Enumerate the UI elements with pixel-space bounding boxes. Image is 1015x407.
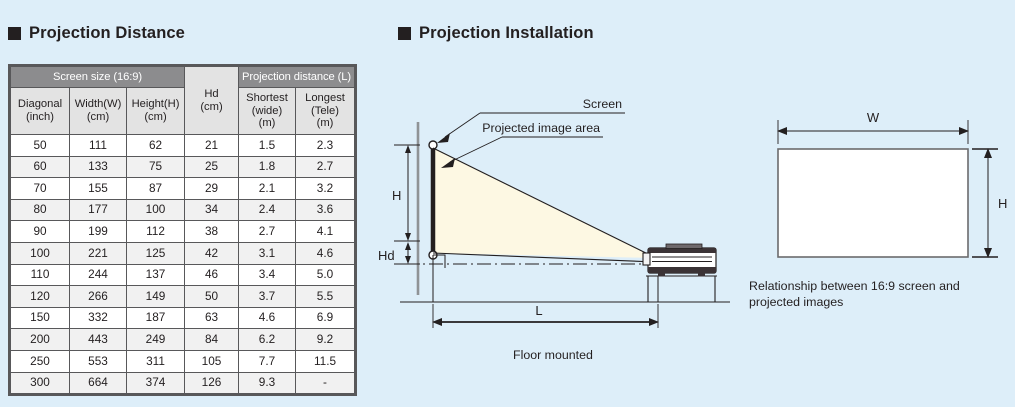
column-header-hd: Hd (cm)	[185, 67, 239, 135]
installation-diagram-svg: H Hd L	[390, 90, 740, 390]
table-cell: 9.3	[239, 372, 296, 394]
table-cell: 50	[185, 286, 239, 308]
square-bullet-icon	[398, 27, 411, 40]
table-cell: 4.6	[296, 242, 355, 264]
projection-distance-table-container: Screen size (16:9) Hd (cm) Projection di…	[8, 64, 357, 396]
table-cell: 50	[11, 135, 70, 157]
table-cell: 87	[127, 178, 185, 200]
dimension-hd-label: Hd	[378, 248, 395, 263]
column-header-height-label: Height(H)	[127, 98, 184, 111]
installation-diagram-caption: Floor mounted	[513, 348, 593, 362]
screen-rectangle	[778, 149, 968, 257]
table-cell: 70	[11, 178, 70, 200]
table-cell: 126	[185, 372, 239, 394]
table-cell: 2.1	[239, 178, 296, 200]
ratio-diagram-caption: Relationship between 16:9 screen and pro…	[749, 278, 999, 311]
table-row: 5011162211.52.3	[11, 135, 355, 157]
table-cell: 155	[70, 178, 127, 200]
table-cell: 3.7	[239, 286, 296, 308]
leader-screen-label: Screen	[583, 97, 622, 111]
page-root: Projection Distance Projection Installat…	[0, 0, 1015, 407]
projection-installation-diagram: H Hd L	[390, 90, 740, 390]
dimension-h-ratio: H	[972, 148, 1007, 258]
table-cell: 250	[11, 350, 70, 372]
table-row: 100221125423.14.6	[11, 242, 355, 264]
table-group-header-row: Screen size (16:9) Hd (cm) Projection di…	[11, 67, 355, 88]
table-cell: 266	[70, 286, 127, 308]
column-header-height: Height(H) (cm)	[127, 88, 185, 135]
dimension-l-label: L	[535, 303, 542, 318]
table-cell: 110	[11, 264, 70, 286]
table-cell: 2.7	[296, 156, 355, 178]
table-cell: 63	[185, 307, 239, 329]
group-header-projection-distance: Projection distance (L)	[239, 67, 355, 88]
table-cell: 34	[185, 199, 239, 221]
table-cell: -	[296, 372, 355, 394]
table-row: 150332187634.66.9	[11, 307, 355, 329]
column-header-hd-unit: (cm)	[185, 101, 238, 114]
table-cell: 9.2	[296, 329, 355, 351]
column-header-longest: Longest (Tele) (m)	[296, 88, 355, 135]
table-cell: 80	[11, 199, 70, 221]
dimension-h-label: H	[392, 188, 401, 203]
column-header-longest-label2: (Tele)	[296, 105, 354, 118]
table-column-header-row: Diagonal (inch) Width(W) (cm) Height(H) …	[11, 88, 355, 135]
column-header-shortest-unit: (m)	[239, 117, 295, 130]
table-cell: 2.7	[239, 221, 296, 243]
table-row: 200443249846.29.2	[11, 329, 355, 351]
column-header-hd-label: Hd	[185, 88, 238, 101]
leader-projected-image-area-label: Projected image area	[482, 121, 600, 135]
table-cell: 311	[127, 350, 185, 372]
column-header-height-unit: (cm)	[127, 111, 184, 124]
table-cell: 75	[127, 156, 185, 178]
table-row: 3006643741269.3-	[11, 372, 355, 394]
table-cell: 5.0	[296, 264, 355, 286]
table-cell: 105	[185, 350, 239, 372]
table-cell: 149	[127, 286, 185, 308]
dimension-l: L	[432, 303, 659, 328]
table-cell: 137	[127, 264, 185, 286]
column-header-width-label: Width(W)	[70, 98, 126, 111]
table-cell: 111	[70, 135, 127, 157]
table-cell: 3.1	[239, 242, 296, 264]
section-heading-label: Projection Installation	[419, 24, 594, 43]
table-cell: 62	[127, 135, 185, 157]
table-cell: 46	[185, 264, 239, 286]
table-row: 110244137463.45.0	[11, 264, 355, 286]
table-cell: 177	[70, 199, 127, 221]
ratio-diagram-svg: W H	[740, 100, 1010, 300]
table-cell: 443	[70, 329, 127, 351]
column-header-width-unit: (cm)	[70, 111, 126, 124]
screen-top-roller-icon	[429, 141, 437, 149]
table-cell: 6.9	[296, 307, 355, 329]
column-header-diagonal-label: Diagonal	[11, 98, 69, 111]
column-header-width: Width(W) (cm)	[70, 88, 127, 135]
table-cell: 2.3	[296, 135, 355, 157]
leader-screen: Screen	[437, 97, 625, 143]
table-cell: 244	[70, 264, 127, 286]
column-header-shortest: Shortest (wide) (m)	[239, 88, 296, 135]
table-cell: 112	[127, 221, 185, 243]
table-cell: 4.1	[296, 221, 355, 243]
table-cell: 199	[70, 221, 127, 243]
table-cell: 100	[11, 242, 70, 264]
table-cell: 120	[11, 286, 70, 308]
table-cell: 249	[127, 329, 185, 351]
table-cell: 84	[185, 329, 239, 351]
table-cell: 2.4	[239, 199, 296, 221]
table-cell: 664	[70, 372, 127, 394]
table-row: 2505533111057.711.5	[11, 350, 355, 372]
table-row: 6013375251.82.7	[11, 156, 355, 178]
table-cell: 1.8	[239, 156, 296, 178]
table-cell: 187	[127, 307, 185, 329]
table-cell: 332	[70, 307, 127, 329]
dimension-h-ratio-label: H	[998, 196, 1007, 211]
table-cell: 90	[11, 221, 70, 243]
dimension-h: H	[392, 145, 420, 241]
table-cell: 3.2	[296, 178, 355, 200]
table-cell: 553	[70, 350, 127, 372]
column-header-diagonal: Diagonal (inch)	[11, 88, 70, 135]
section-heading-projection-distance: Projection Distance	[8, 24, 185, 43]
projection-distance-table: Screen size (16:9) Hd (cm) Projection di…	[10, 66, 355, 394]
table-cell: 3.4	[239, 264, 296, 286]
table-cell: 21	[185, 135, 239, 157]
column-header-shortest-label: Shortest	[239, 92, 295, 105]
table-cell: 300	[11, 372, 70, 394]
column-header-diagonal-unit: (inch)	[11, 111, 69, 124]
table-cell: 3.6	[296, 199, 355, 221]
table-row: 120266149503.75.5	[11, 286, 355, 308]
column-header-longest-label: Longest	[296, 92, 354, 105]
table-cell: 60	[11, 156, 70, 178]
leader-projected-image-area: Projected image area	[441, 121, 603, 168]
table-cell: 7.7	[239, 350, 296, 372]
table-cell: 200	[11, 329, 70, 351]
dimension-hd: Hd	[378, 242, 420, 264]
table-cell: 133	[70, 156, 127, 178]
table-cell: 11.5	[296, 350, 355, 372]
dimension-w: W	[777, 110, 969, 144]
table-cell: 6.2	[239, 329, 296, 351]
section-heading-label: Projection Distance	[29, 24, 185, 43]
section-heading-projection-installation: Projection Installation	[398, 24, 594, 43]
table-cell: 38	[185, 221, 239, 243]
table-cell: 374	[127, 372, 185, 394]
table-cell: 42	[185, 242, 239, 264]
screen-ratio-diagram: W H	[740, 100, 1010, 300]
table-body: 5011162211.52.36013375251.82.77015587292…	[11, 135, 355, 394]
table-cell: 125	[127, 242, 185, 264]
table-cell: 4.6	[239, 307, 296, 329]
table-cell: 1.5	[239, 135, 296, 157]
table-cell: 25	[185, 156, 239, 178]
table-row: 80177100342.43.6	[11, 199, 355, 221]
square-bullet-icon	[8, 27, 21, 40]
group-header-screen-size: Screen size (16:9)	[11, 67, 185, 88]
table-head: Screen size (16:9) Hd (cm) Projection di…	[11, 67, 355, 135]
table-cell: 5.5	[296, 286, 355, 308]
column-header-shortest-label2: (wide)	[239, 105, 295, 118]
table-row: 90199112382.74.1	[11, 221, 355, 243]
dimension-w-label: W	[867, 110, 880, 125]
table-cell: 221	[70, 242, 127, 264]
projector-illustration	[643, 244, 716, 277]
table-row: 7015587292.13.2	[11, 178, 355, 200]
table-cell: 100	[127, 199, 185, 221]
column-header-longest-unit: (m)	[296, 117, 354, 130]
table-cell: 29	[185, 178, 239, 200]
table-cell: 150	[11, 307, 70, 329]
